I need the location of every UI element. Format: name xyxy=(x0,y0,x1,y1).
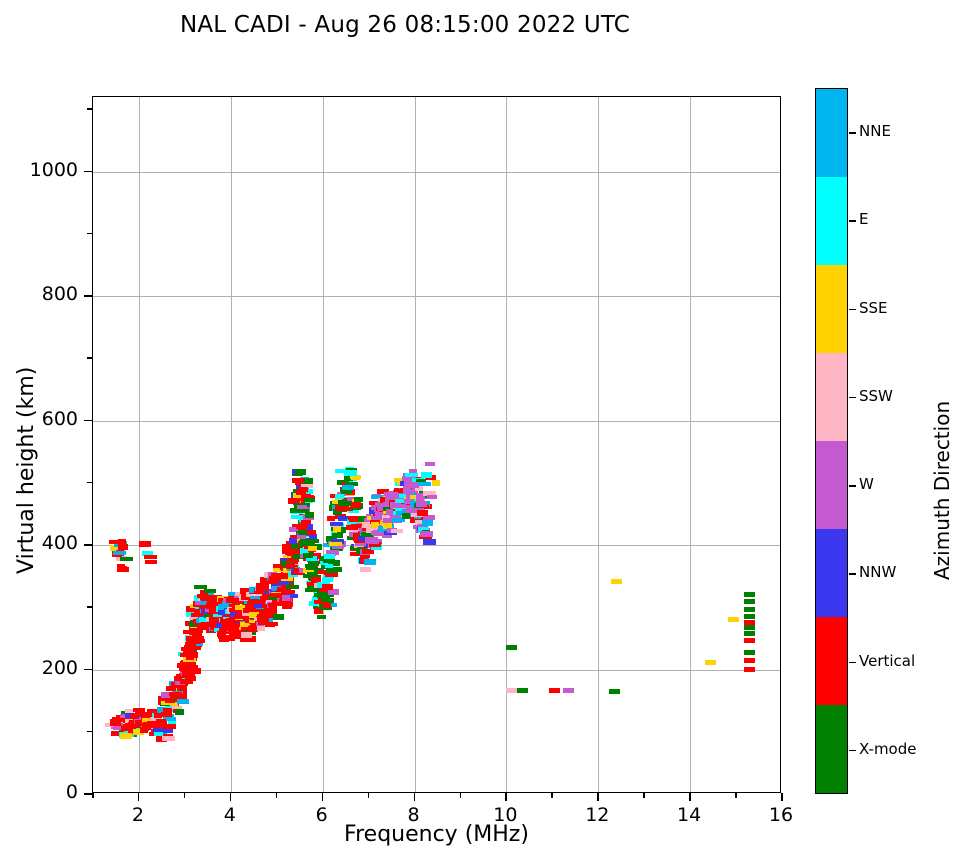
colorbar-band-nnw[interactable] xyxy=(816,529,847,617)
plot-area xyxy=(92,96,781,793)
echo-point xyxy=(360,567,371,572)
echo-point xyxy=(744,607,755,612)
echo-point xyxy=(407,482,419,488)
echo-point xyxy=(506,645,517,650)
echo-point xyxy=(296,524,308,529)
colorbar-label-nne: NNE xyxy=(859,122,891,140)
echo-point xyxy=(418,482,431,486)
echo-point xyxy=(303,553,313,558)
echo-point xyxy=(367,540,379,544)
colorbar-tick xyxy=(849,485,856,487)
echo-point xyxy=(308,546,317,551)
figure-title: NAL CADI - Aug 26 08:15:00 2022 UTC xyxy=(0,12,810,38)
echo-point xyxy=(744,638,755,643)
echo-point xyxy=(189,652,198,658)
echo-point xyxy=(248,599,259,603)
colorbar-label-w: W xyxy=(859,475,874,493)
echo-point xyxy=(282,595,290,601)
colorbar-tick xyxy=(849,397,856,399)
echo-point xyxy=(323,603,331,608)
echo-point xyxy=(744,631,755,636)
echo-point xyxy=(295,469,306,475)
echo-point xyxy=(269,607,277,613)
x-tick-minor xyxy=(460,793,462,798)
echo-point xyxy=(705,660,716,665)
echo-point xyxy=(351,502,361,508)
colorbar-label-e: E xyxy=(859,210,868,228)
colorbar-label-nnw: NNW xyxy=(859,563,896,581)
echo-point xyxy=(298,487,308,492)
echo-point xyxy=(609,689,620,694)
x-tick xyxy=(230,793,232,801)
echo-point xyxy=(144,555,157,559)
y-tick xyxy=(84,544,92,546)
echo-point xyxy=(145,560,157,564)
echo-point xyxy=(330,522,343,526)
colorbar-tick xyxy=(849,309,856,311)
x-tick-minor xyxy=(92,793,94,798)
echo-point xyxy=(517,688,528,693)
y-tick-label: 0 xyxy=(66,781,78,803)
x-tick xyxy=(322,793,324,801)
echo-point xyxy=(421,472,432,478)
colorbar-band-e[interactable] xyxy=(816,177,847,265)
echo-point xyxy=(744,658,755,663)
x-tick xyxy=(505,793,507,801)
echo-point xyxy=(402,513,410,519)
echo-point xyxy=(307,530,316,535)
echo-point xyxy=(563,688,574,693)
colorbar-label-ssw: SSW xyxy=(859,387,893,405)
echo-point xyxy=(393,504,406,508)
echo-point xyxy=(744,650,755,655)
echo-point xyxy=(118,544,128,550)
echo-point xyxy=(267,622,275,627)
colorbar-band-vertical[interactable] xyxy=(816,617,847,705)
colorbar-band-sse[interactable] xyxy=(816,265,847,353)
echo-point xyxy=(405,473,418,477)
echo-point xyxy=(423,539,436,545)
echo-point xyxy=(292,478,304,483)
x-tick xyxy=(138,793,140,801)
echo-point xyxy=(322,584,333,590)
y-tick-label: 200 xyxy=(42,657,78,679)
x-tick-minor xyxy=(551,793,553,798)
y-axis-title: Virtual height (km) xyxy=(14,367,39,574)
echo-point xyxy=(177,699,189,704)
x-tick xyxy=(597,793,599,801)
echo-point xyxy=(329,542,342,546)
echo-point xyxy=(342,485,354,490)
echo-point xyxy=(139,541,151,547)
echo-point xyxy=(279,573,288,577)
echo-point xyxy=(256,586,269,591)
y-tick-label: 400 xyxy=(42,532,78,554)
echo-point xyxy=(241,632,252,638)
echo-point xyxy=(344,470,357,476)
echo-point xyxy=(317,615,326,619)
echo-point xyxy=(282,604,292,609)
echo-point xyxy=(744,614,755,619)
echo-point xyxy=(286,585,299,589)
colorbar-band-w[interactable] xyxy=(816,441,847,529)
colorbar-label-vertical: Vertical xyxy=(859,652,915,670)
echo-point xyxy=(744,667,755,672)
echo-point xyxy=(427,495,437,499)
echo-point xyxy=(744,599,755,604)
echo-point xyxy=(324,554,335,559)
echo-point xyxy=(304,498,315,502)
colorbar-band-ssw[interactable] xyxy=(816,353,847,441)
colorbar-tick xyxy=(849,220,856,222)
echo-point xyxy=(611,579,622,584)
colorbar-band-nne[interactable] xyxy=(816,89,847,177)
echo-point xyxy=(305,512,314,518)
colorbar-label-x-mode: X-mode xyxy=(859,740,916,758)
ionogram-figure: NAL CADI - Aug 26 08:15:00 2022 UTC Virt… xyxy=(0,0,958,857)
colorbar-tick xyxy=(849,662,856,664)
echo-point xyxy=(189,627,197,632)
data-points xyxy=(93,97,780,792)
echo-point xyxy=(321,598,334,602)
echo-point xyxy=(162,736,175,741)
echo-point xyxy=(326,568,338,573)
echo-point xyxy=(113,551,126,555)
echo-point xyxy=(166,717,176,721)
echo-point xyxy=(120,733,132,739)
x-tick-minor xyxy=(276,793,278,798)
y-tick-label: 800 xyxy=(42,283,78,305)
x-tick xyxy=(781,793,783,801)
echo-point xyxy=(362,549,374,554)
echo-point xyxy=(268,603,277,607)
echo-point xyxy=(341,490,352,494)
y-tick xyxy=(84,420,92,422)
x-axis-title: Frequency (MHz) xyxy=(92,822,781,847)
echo-point xyxy=(416,501,427,507)
echo-point xyxy=(188,668,201,674)
echo-point xyxy=(417,510,428,516)
echo-point xyxy=(192,632,202,636)
colorbar-tick xyxy=(849,573,856,575)
echo-point xyxy=(182,674,195,678)
echo-point xyxy=(744,625,755,630)
colorbar-band-x-mode[interactable] xyxy=(816,705,847,793)
echo-point xyxy=(425,462,435,466)
colorbar[interactable] xyxy=(815,88,848,794)
echo-point xyxy=(549,688,560,693)
echo-point xyxy=(166,724,176,729)
echo-point xyxy=(273,614,284,620)
y-tick-label: 1000 xyxy=(30,159,78,181)
echo-point xyxy=(432,480,440,486)
echo-point xyxy=(506,688,517,693)
colorbar-label-sse: SSE xyxy=(859,299,888,317)
y-tick xyxy=(84,793,92,795)
echo-point xyxy=(119,566,127,571)
echo-point xyxy=(391,529,403,533)
echo-point xyxy=(257,625,265,631)
echo-point xyxy=(333,527,341,532)
echo-point xyxy=(187,661,196,666)
y-tick xyxy=(84,295,92,297)
x-tick-minor xyxy=(643,793,645,798)
echo-point xyxy=(193,639,205,643)
echo-point xyxy=(175,709,184,715)
echo-point xyxy=(422,520,433,526)
y-tick xyxy=(84,669,92,671)
x-tick-minor xyxy=(735,793,737,798)
echo-point xyxy=(325,572,338,577)
echo-point xyxy=(728,617,739,622)
x-tick-minor xyxy=(368,793,370,798)
colorbar-tick xyxy=(849,132,856,134)
echo-point xyxy=(154,732,163,736)
echo-point xyxy=(341,506,349,511)
echo-point xyxy=(120,557,133,561)
echo-point xyxy=(420,531,433,537)
y-tick xyxy=(84,171,92,173)
echo-point xyxy=(364,559,376,565)
echo-point xyxy=(289,538,297,544)
colorbar-tick xyxy=(849,750,856,752)
echo-point xyxy=(163,708,172,714)
x-tick xyxy=(414,793,416,801)
y-tick-label: 600 xyxy=(42,408,78,430)
colorbar-title: Azimuth Direction xyxy=(930,401,954,580)
echo-point xyxy=(335,494,344,499)
x-tick-minor xyxy=(184,793,186,798)
echo-point xyxy=(744,592,755,597)
x-tick xyxy=(689,793,691,801)
